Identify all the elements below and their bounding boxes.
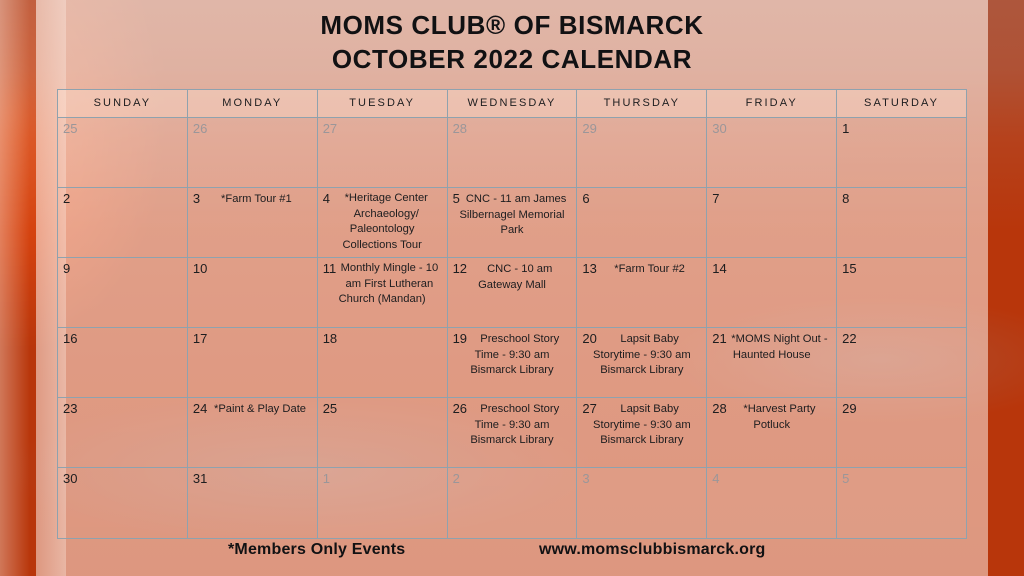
day-cell: 29 bbox=[577, 118, 707, 188]
day-number: 3 bbox=[193, 191, 200, 207]
day-cell: 13*Farm Tour #2 bbox=[577, 258, 707, 328]
day-number: 31 bbox=[193, 471, 207, 487]
day-number: 6 bbox=[582, 191, 589, 207]
day-cell: 30 bbox=[707, 118, 837, 188]
day-number: 12 bbox=[453, 261, 467, 277]
day-event-text: Preschool Story Time - 9:30 am Bismarck … bbox=[453, 401, 572, 449]
day-cell: 25 bbox=[58, 118, 188, 188]
day-cell: 24*Paint & Play Date bbox=[188, 398, 318, 468]
day-number: 4 bbox=[712, 471, 719, 487]
day-number: 27 bbox=[323, 121, 337, 137]
weekday-header-friday: FRIDAY bbox=[707, 90, 837, 117]
calendar-day-cells: 252627282930123*Farm Tour #14*Heritage C… bbox=[57, 118, 967, 539]
day-number: 9 bbox=[63, 261, 70, 277]
day-cell: 27Lapsit Baby Storytime - 9:30 am Bismar… bbox=[577, 398, 707, 468]
day-cell: 22 bbox=[837, 328, 967, 398]
day-number: 3 bbox=[582, 471, 589, 487]
day-event-text: CNC - 10 am Gateway Mall bbox=[453, 261, 572, 293]
day-cell: 15 bbox=[837, 258, 967, 328]
day-cell: 16 bbox=[58, 328, 188, 398]
day-number: 1 bbox=[842, 121, 849, 137]
weekday-header-wednesday: WEDNESDAY bbox=[448, 90, 578, 117]
day-cell: 4 bbox=[707, 468, 837, 538]
weekday-header-tuesday: TUESDAY bbox=[318, 90, 448, 117]
day-cell: 3*Farm Tour #1 bbox=[188, 188, 318, 258]
day-cell: 19Preschool Story Time - 9:30 am Bismarc… bbox=[448, 328, 578, 398]
day-cell: 26 bbox=[188, 118, 318, 188]
day-number: 8 bbox=[842, 191, 849, 207]
day-number: 30 bbox=[712, 121, 726, 137]
weekday-header-sunday: SUNDAY bbox=[58, 90, 188, 117]
day-cell: 9 bbox=[58, 258, 188, 328]
day-cell: 26Preschool Story Time - 9:30 am Bismarc… bbox=[448, 398, 578, 468]
day-cell: 5CNC - 11 am James Silbernagel Memorial … bbox=[448, 188, 578, 258]
day-cell: 3 bbox=[577, 468, 707, 538]
day-cell: 2 bbox=[448, 468, 578, 538]
day-cell: 20Lapsit Baby Storytime - 9:30 am Bismar… bbox=[577, 328, 707, 398]
day-number: 18 bbox=[323, 331, 337, 347]
day-cell: 27 bbox=[318, 118, 448, 188]
day-event-text: *Heritage Center Archaeology/ Paleontolo… bbox=[323, 191, 442, 253]
day-number: 14 bbox=[712, 261, 726, 277]
day-cell: 10 bbox=[188, 258, 318, 328]
day-event-text: *Paint & Play Date bbox=[193, 401, 312, 418]
day-cell: 4*Heritage Center Archaeology/ Paleontol… bbox=[318, 188, 448, 258]
day-cell: 11Monthly Mingle - 10 am First Lutheran … bbox=[318, 258, 448, 328]
day-number: 19 bbox=[453, 331, 467, 347]
weekday-header-saturday: SATURDAY bbox=[837, 90, 967, 117]
page-title: MOMS CLUB® OF BISMARCK OCTOBER 2022 CALE… bbox=[0, 8, 1024, 76]
day-event-text: *MOMS Night Out - Haunted House bbox=[712, 331, 831, 363]
day-cell: 21*MOMS Night Out - Haunted House bbox=[707, 328, 837, 398]
day-number: 20 bbox=[582, 331, 596, 347]
day-cell: 8 bbox=[837, 188, 967, 258]
day-number: 23 bbox=[63, 401, 77, 417]
day-event-text: *Harvest Party Potluck bbox=[712, 401, 831, 433]
day-number: 15 bbox=[842, 261, 856, 277]
weekday-header-monday: MONDAY bbox=[188, 90, 318, 117]
day-number: 27 bbox=[582, 401, 596, 417]
day-number: 29 bbox=[842, 401, 856, 417]
weekday-header-thursday: THURSDAY bbox=[577, 90, 707, 117]
day-event-text: Monthly Mingle - 10 am First Lutheran Ch… bbox=[323, 261, 442, 308]
calendar-poster: MOMS CLUB® OF BISMARCK OCTOBER 2022 CALE… bbox=[0, 0, 1024, 576]
day-number: 30 bbox=[63, 471, 77, 487]
calendar-grid: SUNDAYMONDAYTUESDAYWEDNESDAYTHURSDAYFRID… bbox=[57, 89, 967, 539]
members-only-note: *Members Only Events bbox=[228, 541, 405, 559]
day-cell: 28*Harvest Party Potluck bbox=[707, 398, 837, 468]
day-number: 10 bbox=[193, 261, 207, 277]
day-number: 1 bbox=[323, 471, 330, 487]
day-number: 26 bbox=[453, 401, 467, 417]
day-number: 26 bbox=[193, 121, 207, 137]
day-number: 24 bbox=[193, 401, 207, 417]
day-event-text: *Farm Tour #2 bbox=[582, 261, 701, 278]
day-cell: 23 bbox=[58, 398, 188, 468]
day-event-text: Lapsit Baby Storytime - 9:30 am Bismarck… bbox=[582, 401, 701, 449]
footer: *Members Only Events www.momsclubbismarc… bbox=[0, 541, 1024, 576]
title-line-month: OCTOBER 2022 CALENDAR bbox=[0, 42, 1024, 76]
day-number: 11 bbox=[323, 261, 337, 277]
day-number: 22 bbox=[842, 331, 856, 347]
day-number: 28 bbox=[453, 121, 467, 137]
day-number: 4 bbox=[323, 191, 330, 207]
day-cell: 28 bbox=[448, 118, 578, 188]
day-number: 29 bbox=[582, 121, 596, 137]
day-event-text: Preschool Story Time - 9:30 am Bismarck … bbox=[453, 331, 572, 379]
day-event-text: *Farm Tour #1 bbox=[193, 191, 312, 208]
day-event-text: Lapsit Baby Storytime - 9:30 am Bismarck… bbox=[582, 331, 701, 379]
day-cell: 2 bbox=[58, 188, 188, 258]
day-number: 2 bbox=[453, 471, 460, 487]
day-number: 17 bbox=[193, 331, 207, 347]
day-cell: 31 bbox=[188, 468, 318, 538]
day-cell: 17 bbox=[188, 328, 318, 398]
day-number: 25 bbox=[63, 121, 77, 137]
day-cell: 5 bbox=[837, 468, 967, 538]
day-number: 16 bbox=[63, 331, 77, 347]
day-cell: 12CNC - 10 am Gateway Mall bbox=[448, 258, 578, 328]
day-cell: 14 bbox=[707, 258, 837, 328]
day-cell: 6 bbox=[577, 188, 707, 258]
day-cell: 29 bbox=[837, 398, 967, 468]
title-line-club: MOMS CLUB® OF BISMARCK bbox=[0, 8, 1024, 42]
website-url: www.momsclubbismarck.org bbox=[539, 541, 766, 559]
day-cell: 18 bbox=[318, 328, 448, 398]
day-number: 5 bbox=[842, 471, 849, 487]
day-number: 25 bbox=[323, 401, 337, 417]
day-number: 21 bbox=[712, 331, 726, 347]
day-number: 13 bbox=[582, 261, 596, 277]
day-cell: 1 bbox=[318, 468, 448, 538]
day-cell: 30 bbox=[58, 468, 188, 538]
day-cell: 25 bbox=[318, 398, 448, 468]
day-number: 28 bbox=[712, 401, 726, 417]
day-event-text: CNC - 11 am James Silbernagel Memorial P… bbox=[453, 191, 572, 239]
day-number: 2 bbox=[63, 191, 70, 207]
day-cell: 1 bbox=[837, 118, 967, 188]
day-number: 5 bbox=[453, 191, 460, 207]
day-number: 7 bbox=[712, 191, 719, 207]
weekday-header-row: SUNDAYMONDAYTUESDAYWEDNESDAYTHURSDAYFRID… bbox=[57, 89, 967, 118]
day-cell: 7 bbox=[707, 188, 837, 258]
